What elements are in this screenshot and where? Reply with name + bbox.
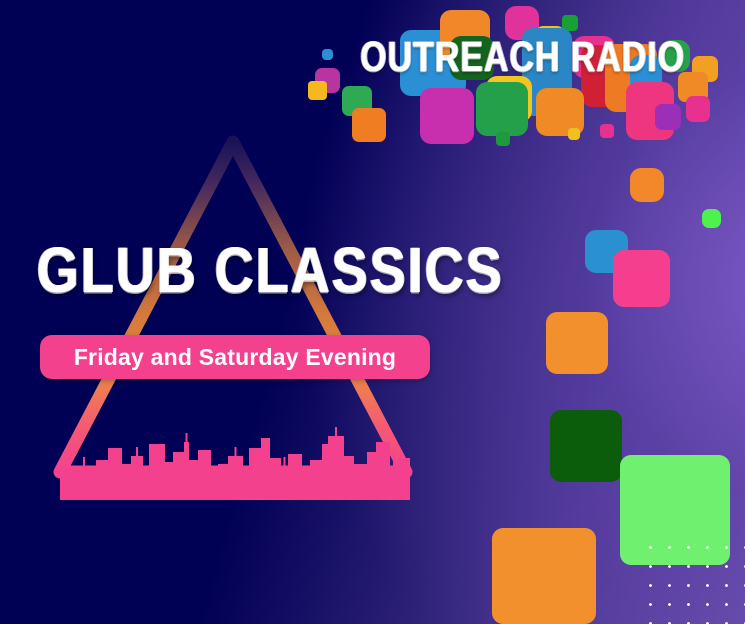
square-orange-top-right [630, 168, 664, 202]
skyline-building [398, 458, 410, 500]
skyline-antenna [83, 457, 85, 466]
tile-magenta-mid [420, 88, 474, 144]
skyline-antenna [335, 427, 337, 436]
skyline-antenna [393, 457, 395, 466]
skyline-building [288, 454, 302, 500]
skyline-building [354, 464, 367, 500]
tile-pink-dot [600, 124, 614, 138]
skyline-building [184, 442, 189, 500]
schedule-badge: Friday and Saturday Evening [40, 335, 430, 379]
skyline-building [390, 466, 398, 500]
skyline-building [96, 460, 108, 500]
tile-yellow-small [308, 81, 327, 100]
tile-purple-bottom [655, 104, 681, 130]
square-pink-mid-right [613, 250, 670, 307]
skyline-building [249, 448, 261, 500]
skyline-building [270, 458, 281, 500]
skyline-building [131, 456, 143, 500]
skyline-building [243, 470, 249, 500]
skyline-building [302, 470, 310, 500]
skyline-building [149, 444, 165, 500]
skyline-building [189, 460, 198, 500]
skyline-building [74, 478, 82, 500]
skyline-building [261, 438, 270, 500]
skyline-building [122, 464, 131, 500]
skyline-building [211, 472, 218, 500]
skyline-building [143, 470, 149, 500]
skyline-building [344, 456, 354, 500]
tile-green-dot2 [496, 132, 510, 146]
tile-pink-far [686, 96, 710, 122]
skyline-antenna [136, 447, 138, 456]
city-skyline [60, 415, 410, 500]
skyline-building [322, 444, 328, 500]
skyline-building [281, 466, 288, 500]
skyline-building [82, 466, 86, 500]
square-orange-bottom [492, 528, 596, 624]
skyline-building [228, 456, 243, 500]
dot-grid-pattern [635, 534, 745, 624]
skyline-building [367, 452, 376, 500]
skyline-building [60, 470, 74, 500]
skyline-building [218, 464, 228, 500]
station-logo: OUTREACH RADIO [300, 0, 745, 160]
schedule-badge-label: Friday and Saturday Evening [74, 344, 396, 371]
skyline-building [86, 474, 96, 500]
tile-orange-left [352, 108, 386, 142]
skyline-antenna [186, 433, 188, 442]
station-name: OUTREACH RADIO [318, 35, 727, 77]
tile-green-bottom [476, 82, 528, 136]
skyline-building [198, 450, 211, 500]
page-title: GLUB CLASSICS [14, 240, 527, 304]
skyline-building [108, 448, 122, 500]
skyline-antenna [235, 447, 237, 456]
skyline-building [310, 460, 322, 500]
square-green-bright-small [702, 209, 721, 228]
skyline-antenna [284, 457, 286, 466]
skyline-building [165, 462, 173, 500]
square-darkgreen-lower [550, 410, 622, 482]
square-orange-mid-right [546, 312, 608, 374]
tile-yellow-dot [568, 128, 580, 140]
poster-canvas: GLUB CLASSICS Friday and Saturday Evenin… [0, 0, 745, 624]
skyline-building [376, 442, 390, 500]
skyline-building [173, 452, 184, 500]
skyline-building [328, 436, 344, 500]
